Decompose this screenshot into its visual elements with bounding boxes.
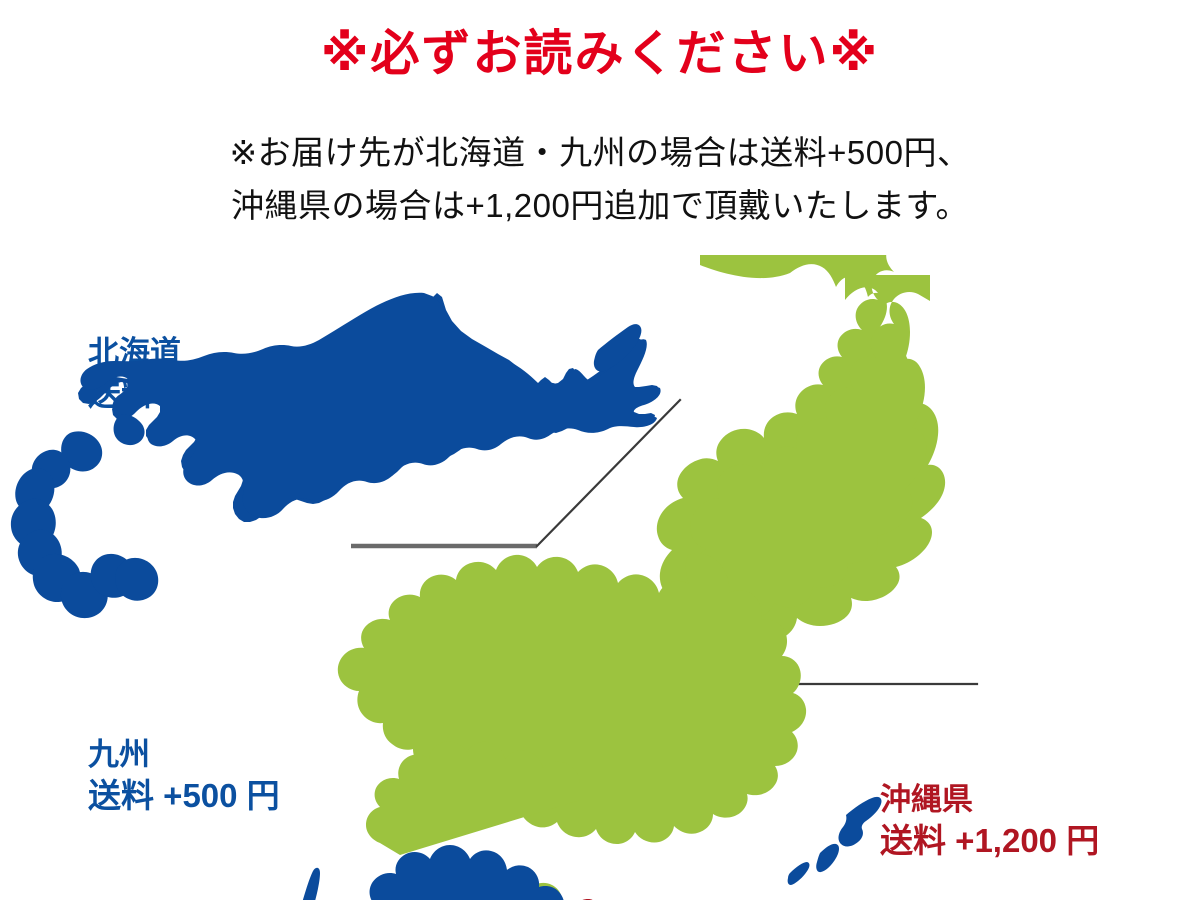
map-region-kyushu (259, 845, 577, 900)
map-islands-nansei (788, 797, 882, 885)
japan-map: 日本地図 送料区分 (0, 255, 1200, 900)
japan-map-svg: 日本地図 送料区分 (0, 255, 1200, 900)
notice-body: ※お届け先が北海道・九州の場合は送料+500円、 沖縄県の場合は+1,200円追… (0, 126, 1200, 233)
shipping-notice-page: ※必ずお読みください※ ※お届け先が北海道・九州の場合は送料+500円、 沖縄県… (0, 0, 1200, 900)
page-title: ※必ずお読みください※ (0, 26, 1200, 82)
notice-body-line-2: 沖縄県の場合は+1,200円追加で頂戴いたします。 (0, 179, 1200, 232)
notice-body-line-1: ※お届け先が北海道・九州の場合は送料+500円、 (0, 126, 1200, 179)
